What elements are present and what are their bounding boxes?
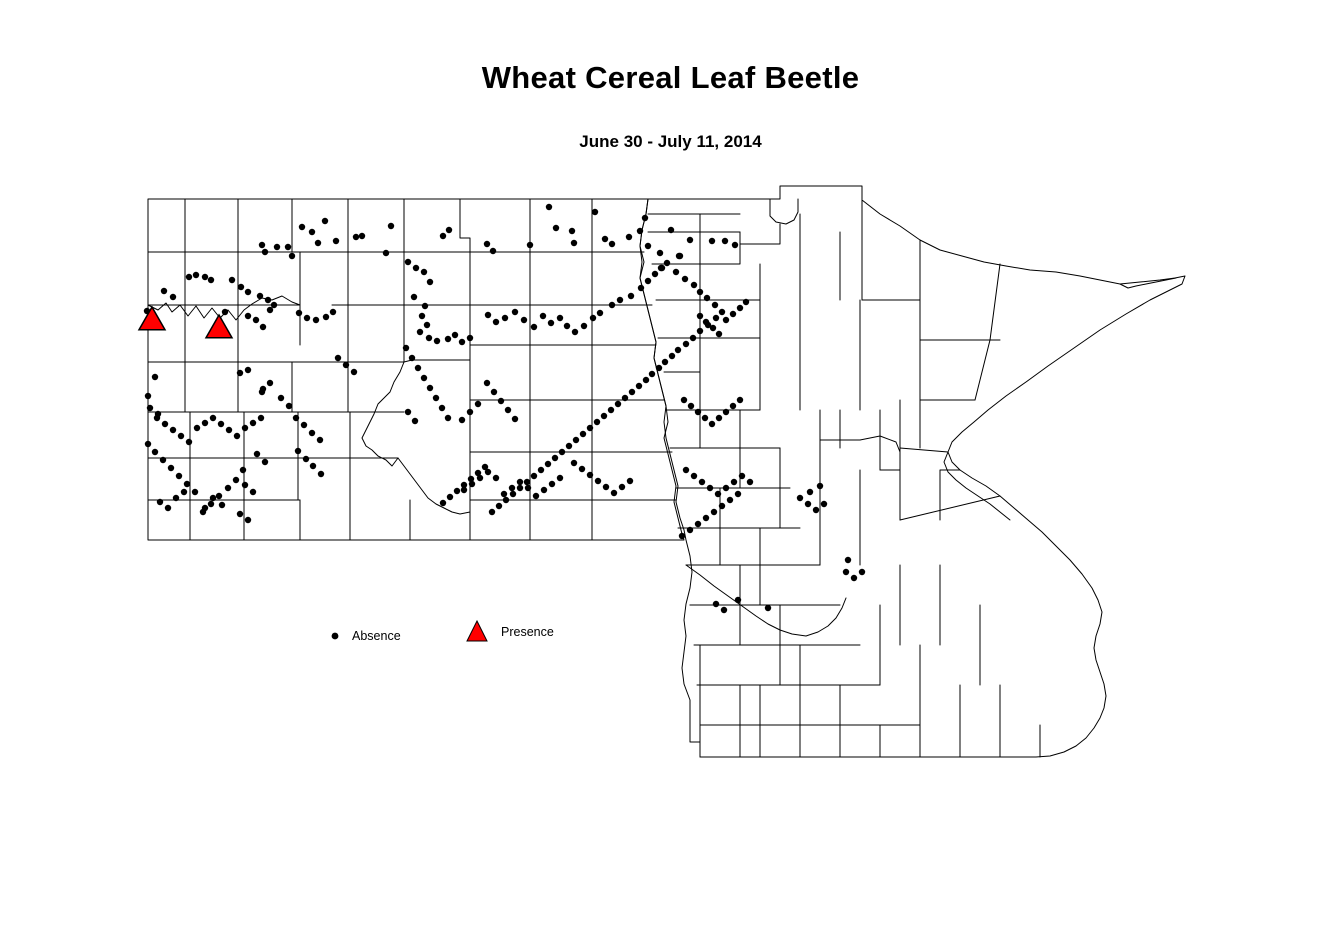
absence-point-marker	[719, 309, 725, 315]
absence-point-marker	[638, 285, 644, 291]
absence-point-marker	[343, 362, 349, 368]
absence-point-marker	[719, 503, 725, 509]
absence-point-marker	[695, 409, 701, 415]
nd-v-1f	[460, 199, 470, 252]
absence-point-marker	[730, 403, 736, 409]
absence-point-marker	[383, 250, 389, 256]
absence-point-marker	[845, 557, 851, 563]
absence-point-marker	[525, 485, 531, 491]
absence-point-marker	[351, 369, 357, 375]
absence-point-marker	[527, 242, 533, 248]
absence-point-marker	[155, 411, 161, 417]
absence-point-marker	[637, 228, 643, 234]
absence-point-marker	[580, 431, 586, 437]
absence-point-marker	[242, 482, 248, 488]
absence-point-marker	[727, 497, 733, 503]
absence-point-marker	[626, 234, 632, 240]
absence-point-marker	[512, 309, 518, 315]
absence-point-marker	[709, 421, 715, 427]
absence-point-marker	[245, 517, 251, 523]
nd-missouri-river-2	[398, 458, 470, 514]
absence-point-marker	[501, 491, 507, 497]
mn-ne-10	[900, 496, 1000, 520]
map-container: Absence Presence	[0, 0, 1341, 926]
absence-point-marker	[323, 314, 329, 320]
absence-point-marker	[333, 238, 339, 244]
absence-point-marker	[859, 569, 865, 575]
absence-point-marker	[656, 365, 662, 371]
absence-point-marker	[192, 489, 198, 495]
absence-point-marker	[545, 461, 551, 467]
absence-point-marker	[721, 607, 727, 613]
legend-absence-label: Absence	[352, 629, 401, 643]
absence-point-marker	[216, 493, 222, 499]
absence-point-marker	[629, 389, 635, 395]
mn-stcroix-boundary	[944, 452, 1010, 520]
absence-point-marker	[286, 403, 292, 409]
absence-point-marker	[716, 415, 722, 421]
absence-point-marker	[603, 484, 609, 490]
absence-point-marker	[675, 347, 681, 353]
absence-point-marker	[238, 284, 244, 290]
legend-presence-icon	[467, 621, 487, 641]
absence-point-marker	[493, 319, 499, 325]
absence-point-marker	[452, 332, 458, 338]
absence-point-marker	[271, 302, 277, 308]
absence-point-marker	[309, 430, 315, 436]
absence-point-marker	[732, 242, 738, 248]
absence-point-marker	[186, 274, 192, 280]
absence-point-marker	[313, 317, 319, 323]
absence-point-marker	[445, 415, 451, 421]
absence-point-marker	[193, 272, 199, 278]
presence-point-marker	[139, 307, 165, 330]
absence-point-marker	[690, 335, 696, 341]
absence-point-marker	[411, 294, 417, 300]
absence-point-marker	[434, 338, 440, 344]
absence-point-marker	[735, 491, 741, 497]
absence-point-marker	[208, 277, 214, 283]
mn-h-line-2	[656, 264, 760, 300]
absence-point-marker	[234, 433, 240, 439]
absence-point-marker	[587, 472, 593, 478]
absence-point-marker	[484, 380, 490, 386]
absence-point-marker	[293, 415, 299, 421]
absence-point-marker	[571, 460, 577, 466]
absence-point-marker	[643, 377, 649, 383]
absence-point-marker	[709, 238, 715, 244]
absence-point-marker	[524, 479, 530, 485]
absence-point-marker	[225, 485, 231, 491]
absence-point-marker	[424, 322, 430, 328]
absence-marker-layer	[144, 204, 865, 613]
absence-point-marker	[417, 329, 423, 335]
absence-point-marker	[152, 449, 158, 455]
absence-point-marker	[259, 242, 265, 248]
nd-devils-lake-boundary	[148, 296, 300, 320]
absence-point-marker	[170, 427, 176, 433]
absence-point-marker	[541, 487, 547, 493]
distribution-map: Absence Presence	[0, 0, 1341, 926]
absence-point-marker	[821, 501, 827, 507]
absence-point-marker	[662, 359, 668, 365]
absence-point-marker	[517, 485, 523, 491]
absence-point-marker	[405, 409, 411, 415]
absence-point-marker	[202, 505, 208, 511]
absence-point-marker	[330, 309, 336, 315]
absence-point-marker	[664, 260, 670, 266]
legend-absence-icon	[332, 633, 339, 640]
absence-point-marker	[315, 240, 321, 246]
absence-point-marker	[697, 289, 703, 295]
absence-point-marker	[716, 331, 722, 337]
absence-point-marker	[691, 282, 697, 288]
absence-point-marker	[546, 204, 552, 210]
legend-presence-label: Presence	[501, 625, 554, 639]
absence-point-marker	[710, 325, 716, 331]
absence-point-marker	[475, 401, 481, 407]
absence-point-marker	[683, 341, 689, 347]
absence-point-marker	[440, 500, 446, 506]
absence-point-marker	[253, 317, 259, 323]
presence-point-marker	[206, 315, 232, 338]
mn-northwest-angle	[770, 199, 798, 224]
absence-point-marker	[274, 244, 280, 250]
absence-point-marker	[405, 259, 411, 265]
absence-point-marker	[851, 575, 857, 581]
map-legend: Absence Presence	[332, 621, 554, 643]
absence-point-marker	[477, 475, 483, 481]
absence-point-marker	[485, 312, 491, 318]
absence-point-marker	[184, 481, 190, 487]
absence-point-marker	[459, 339, 465, 345]
mn-ne-3	[975, 264, 1000, 400]
absence-point-marker	[285, 244, 291, 250]
absence-point-marker	[707, 485, 713, 491]
absence-point-marker	[615, 401, 621, 407]
absence-point-marker	[765, 605, 771, 611]
absence-point-marker	[262, 249, 268, 255]
absence-point-marker	[245, 313, 251, 319]
absence-point-marker	[735, 597, 741, 603]
absence-point-marker	[676, 253, 682, 259]
absence-point-marker	[419, 313, 425, 319]
absence-point-marker	[222, 309, 228, 315]
absence-point-marker	[679, 533, 685, 539]
absence-point-marker	[208, 501, 214, 507]
absence-point-marker	[737, 397, 743, 403]
absence-point-marker	[427, 385, 433, 391]
absence-point-marker	[242, 425, 248, 431]
absence-point-marker	[226, 427, 232, 433]
absence-point-marker	[636, 383, 642, 389]
absence-point-marker	[587, 425, 593, 431]
absence-point-marker	[447, 494, 453, 500]
absence-point-marker	[260, 324, 266, 330]
absence-point-marker	[157, 499, 163, 505]
absence-point-marker	[210, 415, 216, 421]
absence-point-marker	[229, 277, 235, 283]
absence-point-marker	[459, 417, 465, 423]
absence-point-marker	[445, 336, 451, 342]
absence-point-marker	[594, 419, 600, 425]
absence-point-marker	[512, 416, 518, 422]
absence-point-marker	[797, 495, 803, 501]
mn-lake-of-woods-line	[740, 224, 780, 244]
absence-point-marker	[592, 209, 598, 215]
absence-point-marker	[267, 307, 273, 313]
absence-point-marker	[673, 269, 679, 275]
absence-point-marker	[723, 317, 729, 323]
absence-point-marker	[317, 437, 323, 443]
absence-point-marker	[505, 407, 511, 413]
absence-point-marker	[176, 473, 182, 479]
absence-point-marker	[731, 479, 737, 485]
absence-point-marker	[608, 407, 614, 413]
absence-point-marker	[161, 288, 167, 294]
absence-point-marker	[433, 395, 439, 401]
absence-point-marker	[581, 323, 587, 329]
absence-point-marker	[265, 297, 271, 303]
absence-point-marker	[145, 393, 151, 399]
absence-point-marker	[540, 313, 546, 319]
absence-point-marker	[426, 335, 432, 341]
absence-point-marker	[682, 276, 688, 282]
absence-point-marker	[310, 463, 316, 469]
absence-point-marker	[278, 395, 284, 401]
absence-point-marker	[657, 250, 663, 256]
absence-point-marker	[703, 515, 709, 521]
absence-point-marker	[691, 473, 697, 479]
absence-point-marker	[493, 475, 499, 481]
absence-point-marker	[619, 484, 625, 490]
absence-point-marker	[552, 455, 558, 461]
absence-point-marker	[569, 228, 575, 234]
absence-point-marker	[250, 420, 256, 426]
absence-point-marker	[409, 355, 415, 361]
absence-point-marker	[557, 475, 563, 481]
absence-point-marker	[412, 418, 418, 424]
absence-point-marker	[668, 227, 674, 233]
absence-point-marker	[697, 328, 703, 334]
absence-point-marker	[218, 421, 224, 427]
absence-point-marker	[702, 415, 708, 421]
absence-point-marker	[687, 527, 693, 533]
absence-point-marker	[170, 294, 176, 300]
absence-point-marker	[491, 389, 497, 395]
absence-point-marker	[645, 243, 651, 249]
absence-point-marker	[322, 218, 328, 224]
absence-point-marker	[571, 240, 577, 246]
absence-point-marker	[309, 229, 315, 235]
absence-point-marker	[595, 478, 601, 484]
absence-point-marker	[237, 370, 243, 376]
absence-point-marker	[687, 237, 693, 243]
absence-point-marker	[609, 302, 615, 308]
absence-point-marker	[484, 241, 490, 247]
absence-point-marker	[165, 505, 171, 511]
absence-point-marker	[289, 253, 295, 259]
absence-point-marker	[805, 501, 811, 507]
absence-point-marker	[711, 509, 717, 515]
absence-point-marker	[181, 489, 187, 495]
absence-point-marker	[649, 371, 655, 377]
absence-point-marker	[557, 315, 563, 321]
county-outline-layer	[148, 186, 1185, 757]
absence-point-marker	[403, 345, 409, 351]
absence-point-marker	[194, 425, 200, 431]
absence-point-marker	[262, 459, 268, 465]
absence-point-marker	[421, 375, 427, 381]
absence-point-marker	[467, 335, 473, 341]
absence-point-marker	[250, 489, 256, 495]
absence-point-marker	[415, 365, 421, 371]
absence-point-marker	[737, 305, 743, 311]
absence-point-marker	[807, 489, 813, 495]
absence-point-marker	[233, 477, 239, 483]
absence-point-marker	[446, 227, 452, 233]
absence-point-marker	[168, 465, 174, 471]
absence-point-marker	[496, 503, 502, 509]
absence-point-marker	[353, 234, 359, 240]
absence-point-marker	[681, 397, 687, 403]
absence-point-marker	[611, 490, 617, 496]
absence-point-marker	[669, 353, 675, 359]
absence-point-marker	[318, 471, 324, 477]
absence-point-marker	[559, 449, 565, 455]
mn-ne-8	[900, 448, 948, 452]
absence-point-marker	[697, 313, 703, 319]
absence-point-marker	[622, 395, 628, 401]
absence-point-marker	[713, 601, 719, 607]
absence-point-marker	[590, 315, 596, 321]
absence-point-marker	[413, 265, 419, 271]
mn-minnesota-river	[686, 565, 846, 636]
absence-point-marker	[303, 456, 309, 462]
absence-point-marker	[299, 224, 305, 230]
absence-point-marker	[601, 413, 607, 419]
absence-point-marker	[304, 315, 310, 321]
absence-point-marker	[553, 225, 559, 231]
absence-point-marker	[521, 317, 527, 323]
absence-point-marker	[461, 487, 467, 493]
absence-point-marker	[517, 479, 523, 485]
absence-point-marker	[713, 315, 719, 321]
absence-point-marker	[173, 495, 179, 501]
absence-point-marker	[147, 405, 153, 411]
absence-point-marker	[422, 303, 428, 309]
minnesota-border	[640, 186, 1185, 757]
absence-point-marker	[388, 223, 394, 229]
absence-point-marker	[695, 521, 701, 527]
absence-point-marker	[202, 274, 208, 280]
absence-point-marker	[509, 485, 515, 491]
absence-point-marker	[510, 491, 516, 497]
absence-point-marker	[260, 386, 266, 392]
absence-point-marker	[573, 437, 579, 443]
absence-point-marker	[817, 483, 823, 489]
absence-point-marker	[489, 509, 495, 515]
absence-point-marker	[254, 451, 260, 457]
absence-point-marker	[490, 248, 496, 254]
absence-point-marker	[301, 422, 307, 428]
absence-point-marker	[723, 485, 729, 491]
absence-point-marker	[186, 439, 192, 445]
absence-point-marker	[240, 467, 246, 473]
absence-point-marker	[564, 323, 570, 329]
absence-point-marker	[642, 215, 648, 221]
mn-ne-9	[940, 470, 960, 520]
absence-point-marker	[703, 319, 709, 325]
absence-point-marker	[743, 299, 749, 305]
absence-point-marker	[503, 497, 509, 503]
absence-point-marker	[843, 569, 849, 575]
absence-point-marker	[566, 443, 572, 449]
absence-point-marker	[258, 415, 264, 421]
absence-point-marker	[712, 302, 718, 308]
absence-point-marker	[813, 507, 819, 513]
absence-point-marker	[440, 233, 446, 239]
absence-point-marker	[688, 403, 694, 409]
absence-point-marker	[652, 271, 658, 277]
absence-point-marker	[454, 488, 460, 494]
absence-point-marker	[549, 481, 555, 487]
absence-point-marker	[597, 310, 603, 316]
absence-point-marker	[628, 293, 634, 299]
absence-point-marker	[202, 420, 208, 426]
absence-point-marker	[531, 324, 537, 330]
absence-point-marker	[531, 473, 537, 479]
absence-point-marker	[152, 374, 158, 380]
absence-point-marker	[421, 269, 427, 275]
absence-point-marker	[296, 310, 302, 316]
absence-point-marker	[533, 493, 539, 499]
absence-point-marker	[704, 295, 710, 301]
absence-point-marker	[722, 238, 728, 244]
absence-point-marker	[627, 478, 633, 484]
absence-point-marker	[548, 320, 554, 326]
absence-point-marker	[469, 481, 475, 487]
absence-point-marker	[467, 409, 473, 415]
absence-point-marker	[602, 236, 608, 242]
absence-point-marker	[730, 311, 736, 317]
absence-point-marker	[335, 355, 341, 361]
absence-point-marker	[237, 511, 243, 517]
absence-point-marker	[257, 293, 263, 299]
absence-point-marker	[617, 297, 623, 303]
absence-point-marker	[359, 233, 365, 239]
absence-point-marker	[245, 367, 251, 373]
absence-point-marker	[427, 279, 433, 285]
absence-point-marker	[645, 278, 651, 284]
absence-point-marker	[747, 479, 753, 485]
absence-point-marker	[219, 502, 225, 508]
absence-point-marker	[502, 315, 508, 321]
absence-point-marker	[538, 467, 544, 473]
nd-tier-line-4	[148, 345, 656, 362]
absence-point-marker	[267, 380, 273, 386]
absence-point-marker	[439, 405, 445, 411]
absence-point-marker	[145, 441, 151, 447]
absence-point-marker	[699, 479, 705, 485]
absence-point-marker	[609, 241, 615, 247]
nd-missouri-river	[362, 362, 404, 466]
absence-point-marker	[658, 265, 664, 271]
absence-point-marker	[245, 289, 251, 295]
absence-point-marker	[683, 467, 689, 473]
absence-point-marker	[739, 473, 745, 479]
absence-point-marker	[579, 466, 585, 472]
